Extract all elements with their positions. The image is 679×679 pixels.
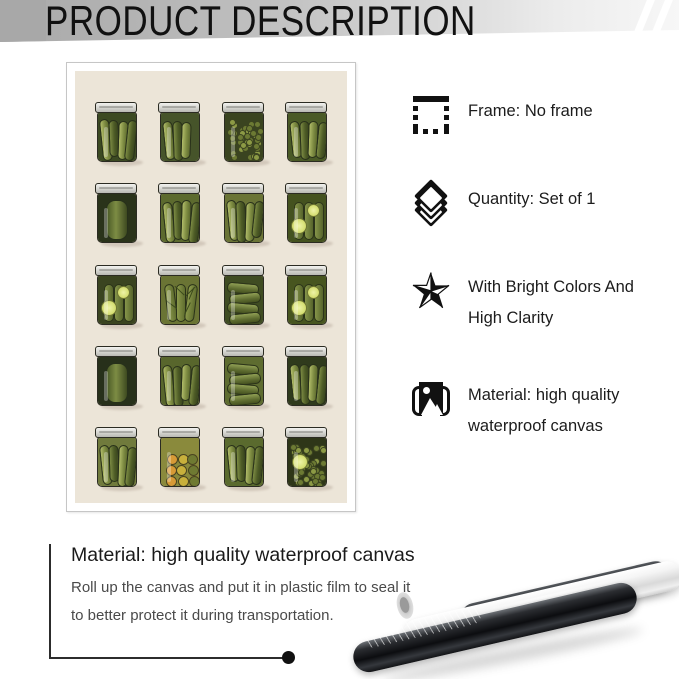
poster-jar [85, 410, 147, 489]
feature-item-frame: Frame: No frame [408, 92, 670, 138]
feature-list: Frame: No frame Quantity: Set of 1 [408, 92, 670, 484]
poster-jar [276, 410, 338, 489]
poster-jar [212, 329, 274, 408]
feature-label: Quantity: Set of 1 [468, 180, 596, 215]
feature-label: Material: high quality waterproof canvas [468, 376, 670, 442]
poster-jar [212, 410, 274, 489]
poster-jar [276, 85, 338, 164]
poster-jar [149, 247, 211, 326]
feature-label: With Bright Colors And High Clarity [468, 268, 670, 334]
poster-jar [276, 247, 338, 326]
layers-icon [408, 180, 454, 226]
callout-bracket-dot [282, 651, 295, 664]
poster-jar [149, 166, 211, 245]
callout-bracket-horizontal [49, 657, 288, 659]
poster-jar [85, 247, 147, 326]
frame-icon [408, 92, 454, 138]
poster-jar [276, 166, 338, 245]
poster-jar [276, 329, 338, 408]
poster-jar [149, 85, 211, 164]
poster-jar [212, 85, 274, 164]
poster-artwork-grid [75, 71, 347, 503]
star-icon [408, 268, 454, 314]
poster-jar [85, 166, 147, 245]
poster-jar [85, 85, 147, 164]
feature-label: Frame: No frame [468, 92, 593, 127]
header-left-block [0, 0, 46, 42]
product-poster[interactable] [66, 62, 356, 512]
feature-item-material: Material: high quality waterproof canvas [408, 376, 670, 442]
callout-line-2: to better protect it during transportati… [71, 602, 334, 630]
feature-item-quality: With Bright Colors And High Clarity [408, 268, 670, 334]
poster-jar [149, 410, 211, 489]
callout-bracket-vertical [49, 544, 51, 659]
page-header: PRODUCT DESCRIPTION [0, 0, 679, 42]
poster-jar [85, 329, 147, 408]
poster-jar [212, 166, 274, 245]
page-title: PRODUCT DESCRIPTION [45, 0, 476, 42]
poster-jar [212, 247, 274, 326]
feature-item-quantity: Quantity: Set of 1 [408, 180, 670, 226]
rolled-canvas-photo [340, 556, 679, 679]
picture-icon [408, 376, 454, 422]
poster-jar [149, 329, 211, 408]
